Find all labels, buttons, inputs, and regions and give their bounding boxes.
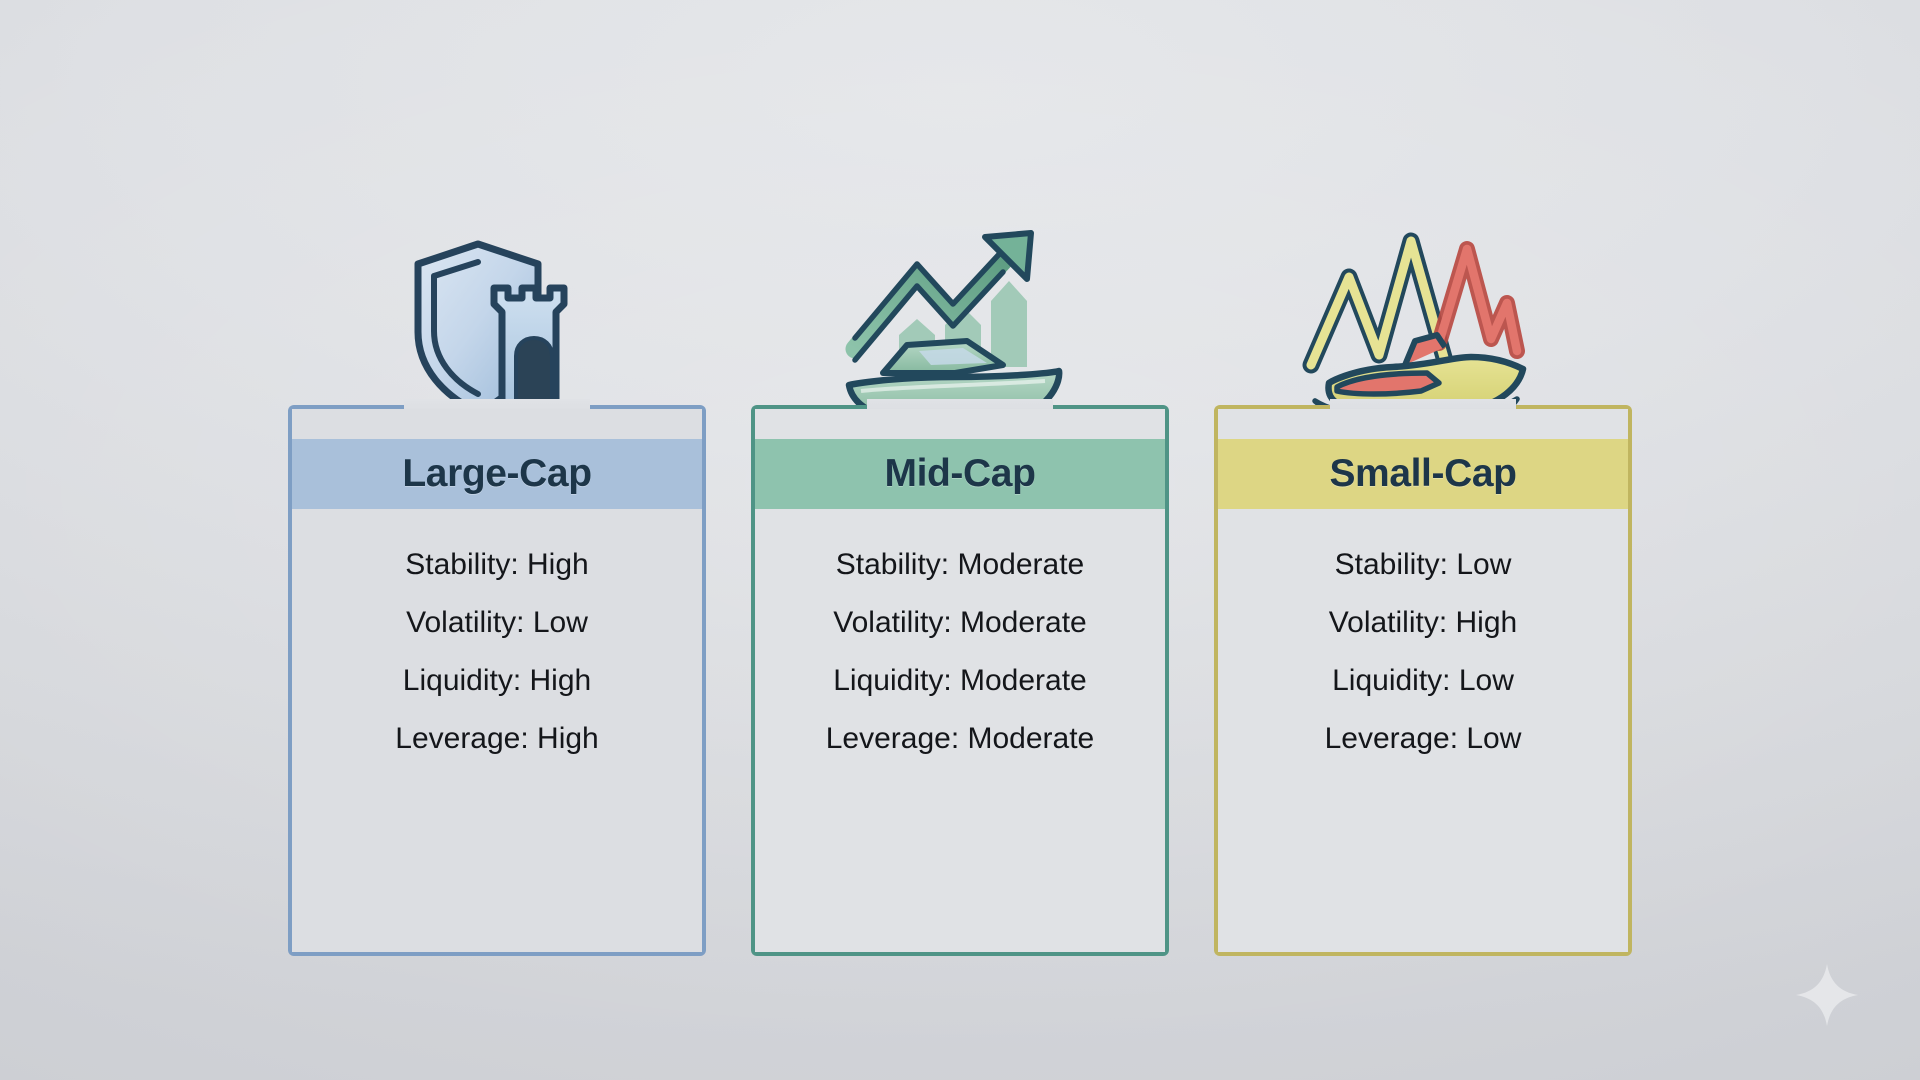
title-band-large-cap: Large-Cap bbox=[292, 439, 702, 509]
card-large-cap[interactable]: Large-Cap Stability: High Volatility: Lo… bbox=[288, 405, 706, 956]
card-title: Large-Cap bbox=[402, 452, 591, 496]
attribute-row-leverage: Leverage: Low bbox=[1325, 713, 1522, 765]
card-top-spacer bbox=[292, 409, 702, 439]
card-top-spacer bbox=[1218, 409, 1628, 439]
attribute-row-volatility: Volatility: Low bbox=[406, 597, 588, 649]
infographic-canvas: Large-Cap Stability: High Volatility: Lo… bbox=[0, 0, 1920, 1080]
card-inner-large-cap: Large-Cap Stability: High Volatility: Lo… bbox=[292, 409, 702, 952]
title-band-small-cap: Small-Cap bbox=[1218, 439, 1628, 509]
attribute-list-large-cap: Stability: High Volatility: Low Liquidit… bbox=[292, 509, 702, 952]
title-band-mid-cap: Mid-Cap bbox=[755, 439, 1165, 509]
card-inner-small-cap: Small-Cap Stability: Low Volatility: Hig… bbox=[1218, 409, 1628, 952]
shield-castle-icon bbox=[382, 228, 612, 428]
card-title: Small-Cap bbox=[1329, 452, 1516, 496]
attribute-row-stability: Stability: Low bbox=[1335, 539, 1512, 591]
card-small-cap[interactable]: Small-Cap Stability: Low Volatility: Hig… bbox=[1214, 405, 1632, 956]
card-row: Large-Cap Stability: High Volatility: Lo… bbox=[0, 405, 1920, 956]
attribute-list-small-cap: Stability: Low Volatility: High Liquidit… bbox=[1218, 509, 1628, 952]
attribute-row-volatility: Volatility: High bbox=[1329, 597, 1517, 649]
speedboat-growth-chart-icon bbox=[835, 215, 1085, 430]
attribute-row-stability: Stability: High bbox=[405, 539, 588, 591]
attribute-row-leverage: Leverage: Moderate bbox=[826, 713, 1095, 765]
attribute-row-stability: Stability: Moderate bbox=[836, 539, 1084, 591]
attribute-row-leverage: Leverage: High bbox=[395, 713, 598, 765]
attribute-row-liquidity: Liquidity: Moderate bbox=[833, 655, 1086, 707]
attribute-row-liquidity: Liquidity: Low bbox=[1332, 655, 1514, 707]
card-mid-cap[interactable]: Mid-Cap Stability: Moderate Volatility: … bbox=[751, 405, 1169, 956]
card-title: Mid-Cap bbox=[884, 452, 1035, 496]
attribute-list-mid-cap: Stability: Moderate Volatility: Moderate… bbox=[755, 509, 1165, 952]
attribute-row-liquidity: Liquidity: High bbox=[403, 655, 591, 707]
sparkle-icon bbox=[1794, 962, 1860, 1028]
attribute-row-volatility: Volatility: Moderate bbox=[833, 597, 1086, 649]
card-top-spacer bbox=[755, 409, 1165, 439]
jetski-volatility-icon bbox=[1293, 215, 1553, 430]
card-inner-mid-cap: Mid-Cap Stability: Moderate Volatility: … bbox=[755, 409, 1165, 952]
